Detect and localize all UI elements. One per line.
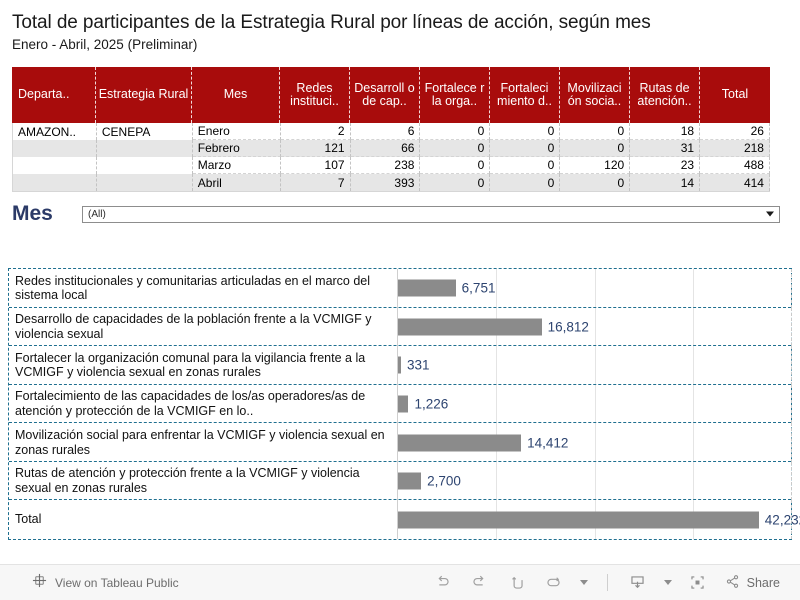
column-header-departamento[interactable]: Departa..	[12, 67, 96, 123]
mes-dropdown[interactable]: (All)	[82, 206, 780, 223]
cell-departamento: AMAZON..	[13, 123, 97, 140]
crosstab-header-row: Departa.. Estrategia Rural Mes Redes ins…	[12, 67, 770, 123]
chart-category-label: Rutas de atención y protección frente a …	[9, 462, 398, 501]
page-title-block: Total de participantes de la Estrategia …	[0, 0, 800, 60]
chart-bar-value-label: 331	[407, 358, 430, 373]
column-header-desarrollo-capacidades[interactable]: Desarroll o de cap..	[350, 67, 420, 123]
revert-button[interactable]	[500, 569, 534, 597]
chart-gridline	[496, 269, 497, 308]
chart-plot-cell: 1,226	[398, 385, 791, 424]
cell-desarrollo: 393	[351, 174, 421, 191]
toolbar-divider	[607, 574, 608, 591]
cell-total: 488	[700, 157, 770, 174]
chart-category-label: Movilización social para enfrentar la VC…	[9, 423, 398, 462]
cell-rutas: 31	[630, 140, 700, 157]
mes-dropdown-value: (All)	[83, 209, 106, 220]
chart-gridline	[595, 423, 596, 462]
chart-gridline	[595, 385, 596, 424]
chart-gridline	[791, 308, 792, 347]
chart-gridline	[693, 269, 694, 308]
column-header-mes[interactable]: Mes	[192, 67, 280, 123]
pause-dropdown-caret-icon[interactable]	[574, 569, 594, 597]
cell-mes: Marzo	[193, 157, 281, 174]
chart-row[interactable]: Movilización social para enfrentar la VC…	[9, 423, 791, 462]
chart-gridline	[595, 346, 596, 385]
column-header-rutas-atencion[interactable]: Rutas de atención..	[630, 67, 700, 123]
download-dropdown-caret-icon[interactable]	[658, 569, 678, 597]
chart-gridline	[496, 385, 497, 424]
chart-bar[interactable]	[398, 434, 521, 451]
chevron-down-icon[interactable]	[766, 212, 774, 217]
chart-bar[interactable]	[398, 396, 408, 413]
chart-rows: Redes institucionales y comunitarias art…	[9, 269, 791, 539]
tableau-logo-icon	[32, 573, 47, 593]
cell-desarrollo: 6	[351, 123, 421, 140]
chevron-down-icon	[664, 580, 672, 585]
cell-mes: Abril	[193, 174, 281, 191]
cell-fortalecer: 0	[420, 174, 490, 191]
tableau-public-label: View on Tableau Public	[55, 576, 179, 590]
crosstab-table: Departa.. Estrategia Rural Mes Redes ins…	[12, 67, 770, 192]
chart-category-label: Desarrollo de capacidades de la població…	[9, 308, 398, 347]
chart-row[interactable]: Total42,232	[9, 500, 791, 539]
bottom-toolbar: View on Tableau Public	[0, 564, 800, 600]
table-row[interactable]: Marzo 107 238 0 0 120 23 488	[13, 157, 770, 174]
chart-bar-value-label: 1,226	[414, 397, 448, 412]
cell-movilizacion: 0	[560, 123, 630, 140]
cell-rutas: 14	[630, 174, 700, 191]
undo-button[interactable]	[426, 569, 460, 597]
chart-category-label: Fortalecimiento de las capacidades de lo…	[9, 385, 398, 424]
chart-row[interactable]: Rutas de atención y protección frente a …	[9, 462, 791, 501]
cell-redes: 107	[281, 157, 351, 174]
cell-fortalecimiento: 0	[490, 174, 560, 191]
cell-redes: 121	[281, 140, 351, 157]
chart-bar-value-label: 2,700	[427, 474, 461, 489]
table-row[interactable]: Abril 7 393 0 0 0 14 414	[13, 174, 770, 191]
page-title: Total de participantes de la Estrategia …	[12, 12, 800, 34]
cell-estrategia	[97, 140, 193, 157]
filter-label-mes: Mes	[12, 202, 82, 226]
cell-fortalecer: 0	[420, 157, 490, 174]
toolbar-actions: Share	[426, 569, 786, 597]
cell-estrategia	[97, 174, 193, 191]
cell-estrategia	[97, 157, 193, 174]
chevron-down-icon	[580, 580, 588, 585]
chart-gridline	[595, 462, 596, 501]
chart-gridline	[693, 346, 694, 385]
cell-rutas: 18	[630, 123, 700, 140]
chart-gridline	[791, 423, 792, 462]
column-header-total[interactable]: Total	[700, 67, 770, 123]
cell-fortalecer: 0	[420, 123, 490, 140]
chart-category-label: Fortalecer la organización comunal para …	[9, 346, 398, 385]
bar-chart: Redes institucionales y comunitarias art…	[8, 268, 792, 540]
chart-plot-cell: 14,412	[398, 423, 791, 462]
cell-fortalecimiento: 0	[490, 123, 560, 140]
column-header-movilizacion-social[interactable]: Movilizaci ón socia..	[560, 67, 630, 123]
table-row[interactable]: AMAZON.. CENEPA Enero 2 6 0 0 0 18 26	[13, 123, 770, 140]
share-button[interactable]: Share	[718, 573, 786, 593]
column-header-estrategia-rural[interactable]: Estrategia Rural	[96, 67, 192, 123]
crosstab-body: AMAZON.. CENEPA Enero 2 6 0 0 0 18 26 Fe…	[12, 123, 770, 192]
chart-bar[interactable]	[398, 357, 401, 374]
chart-gridline	[791, 385, 792, 424]
chart-bar-value-label: 14,412	[527, 435, 568, 450]
cell-desarrollo: 66	[351, 140, 421, 157]
cell-departamento	[13, 174, 97, 191]
cell-movilizacion: 0	[560, 174, 630, 191]
chart-gridline	[693, 308, 694, 347]
cell-departamento	[13, 140, 97, 157]
cell-total: 218	[700, 140, 770, 157]
filter-mes: Mes (All)	[12, 202, 800, 226]
tableau-public-link[interactable]: View on Tableau Public	[32, 573, 179, 593]
page-subtitle: Enero - Abril, 2025 (Preliminar)	[12, 37, 800, 54]
chart-bar[interactable]	[398, 318, 542, 335]
share-icon	[724, 573, 741, 593]
redo-button[interactable]	[463, 569, 497, 597]
chart-row[interactable]: Redes institucionales y comunitarias art…	[9, 269, 791, 308]
cell-total: 414	[700, 174, 770, 191]
chart-bar[interactable]	[398, 511, 759, 528]
chart-gridline	[496, 346, 497, 385]
cell-rutas: 23	[630, 157, 700, 174]
column-header-redes-institucionales[interactable]: Redes instituci..	[280, 67, 350, 123]
chart-gridline	[791, 346, 792, 385]
chart-bar-value-label: 16,812	[548, 319, 589, 334]
chart-row[interactable]: Fortalecer la organización comunal para …	[9, 346, 791, 385]
chart-gridline	[693, 423, 694, 462]
table-row[interactable]: Febrero 121 66 0 0 0 31 218	[13, 140, 770, 157]
chart-row[interactable]: Fortalecimiento de las capacidades de lo…	[9, 385, 791, 424]
chart-bar-value-label: 6,751	[462, 281, 496, 296]
share-label: Share	[747, 576, 780, 590]
chart-category-label: Total	[9, 500, 398, 539]
chart-gridline	[595, 308, 596, 347]
cell-fortalecimiento: 0	[490, 157, 560, 174]
chart-bar-value-label: 42,232	[765, 512, 800, 527]
download-button[interactable]	[621, 569, 655, 597]
cell-desarrollo: 238	[351, 157, 421, 174]
cell-redes: 7	[281, 174, 351, 191]
column-header-fortalecimiento-capacidades[interactable]: Fortaleci miento d..	[490, 67, 560, 123]
cell-estrategia: CENEPA	[97, 123, 193, 140]
chart-plot-cell: 331	[398, 346, 791, 385]
cell-departamento	[13, 157, 97, 174]
refresh-button[interactable]	[537, 569, 571, 597]
cell-mes: Enero	[193, 123, 281, 140]
cell-movilizacion: 120	[560, 157, 630, 174]
column-header-fortalecer-organizacion[interactable]: Fortalece r la orga..	[420, 67, 490, 123]
chart-bar[interactable]	[398, 473, 421, 490]
cell-fortalecimiento: 0	[490, 140, 560, 157]
cell-mes: Febrero	[193, 140, 281, 157]
chart-row[interactable]: Desarrollo de capacidades de la població…	[9, 308, 791, 347]
chart-plot-cell: 42,232	[398, 500, 791, 539]
chart-gridline	[693, 385, 694, 424]
chart-gridline	[693, 462, 694, 501]
chart-gridline	[791, 462, 792, 501]
chart-plot-cell: 6,751	[398, 269, 791, 308]
chart-bar[interactable]	[398, 280, 456, 297]
cell-redes: 2	[281, 123, 351, 140]
fullscreen-button[interactable]	[681, 569, 715, 597]
cell-total: 26	[700, 123, 770, 140]
chart-category-label: Redes institucionales y comunitarias art…	[9, 269, 398, 308]
chart-gridline	[791, 269, 792, 308]
chart-plot-cell: 2,700	[398, 462, 791, 501]
cell-fortalecer: 0	[420, 140, 490, 157]
chart-gridline	[595, 269, 596, 308]
chart-plot-cell: 16,812	[398, 308, 791, 347]
cell-movilizacion: 0	[560, 140, 630, 157]
chart-gridline	[496, 462, 497, 501]
